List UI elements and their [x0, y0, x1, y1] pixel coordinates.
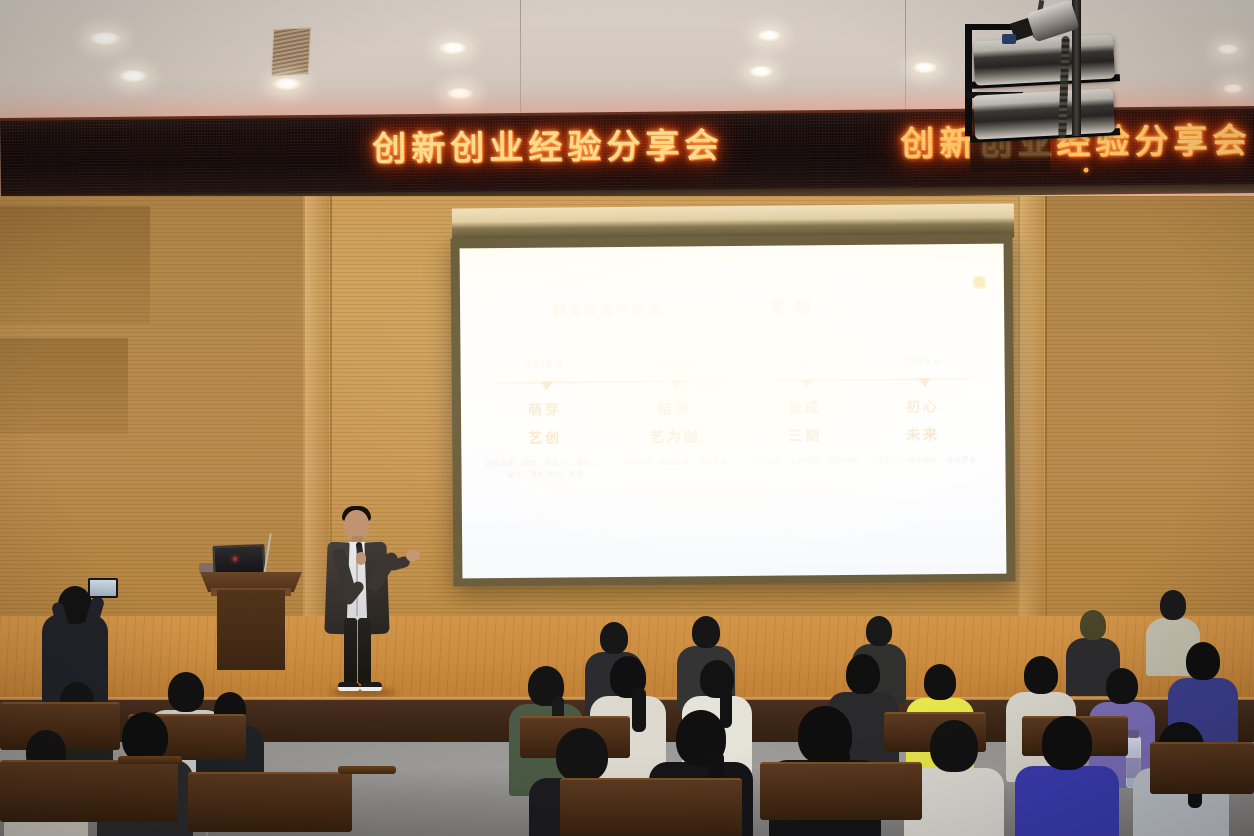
slide-subtitle: 艺 创	[770, 293, 813, 317]
timeline-heading-primary: 初心	[857, 396, 989, 417]
timeline-item: 2018.3 萌芽 艺创 团队组建、理念、项目 工、摄影工、设计、课外 活动、策…	[478, 247, 610, 248]
timeline-date: 2019.6	[857, 356, 989, 368]
timeline-body-text: 广州分部、业务拓展、 品牌升级	[743, 457, 867, 469]
chair-armrest	[338, 766, 396, 774]
timeline-heading-secondary: 未来	[857, 424, 989, 445]
slide-brand-logo	[973, 276, 986, 289]
wall-recess-lower	[0, 338, 128, 434]
projection-screen-frame: 创业历程时间轴 艺 创 2018.3 萌芽 艺创 团队组建、理念、项目 工、摄影…	[450, 234, 1015, 587]
timeline-marker-icon	[671, 380, 683, 389]
timeline-marker-icon	[541, 382, 553, 391]
timeline-axis	[481, 378, 987, 384]
wall-recess-upper	[0, 206, 150, 324]
wall-vertical-strip	[1018, 196, 1044, 616]
timeline-date: 2018.3	[479, 359, 611, 371]
cable-clamp	[1002, 34, 1016, 44]
timeline-body-text: 不忘初心、继续前行、 服务更多	[861, 456, 985, 468]
timeline-heading-primary: 萌芽	[479, 399, 611, 420]
ceiling-downlight	[88, 32, 122, 46]
wall-right-panel	[1045, 196, 1254, 616]
audience-area	[0, 560, 1254, 836]
timeline-body-text: 注册公司、首批业务、 团队扩展	[613, 458, 737, 470]
auditorium-scene: 创新创业经验分享会 创新创业经验分享会 创业历程时	[0, 0, 1254, 836]
timeline-date: 2018.6	[609, 358, 741, 370]
auditorium-chair[interactable]	[0, 760, 178, 822]
timeline-item: 2018.6 结果 艺为创 注册公司、首批业务、 团队扩展	[608, 246, 740, 247]
timeline-heading-secondary: 三期	[739, 425, 871, 446]
timeline-heading-primary: 长成	[739, 397, 871, 418]
smartphone	[88, 578, 118, 598]
timeline-heading-secondary: 艺创	[479, 427, 611, 448]
water-bottle-cap	[1128, 730, 1139, 738]
timeline-body-text: 团队组建、理念、项目 工、摄影工、设计、课外 活动、策划	[483, 459, 607, 482]
projector-bracket	[965, 24, 972, 136]
timeline-item: 2019.2 长成 三期 广州分部、业务拓展、 品牌升级	[738, 245, 870, 246]
timeline-marker-icon	[801, 379, 813, 388]
ceiling-downlight	[438, 42, 468, 55]
timeline-heading-primary: 结果	[609, 398, 741, 419]
chair-armrest	[118, 756, 182, 764]
auditorium-chair[interactable]	[560, 778, 742, 836]
projector-unit-lower	[973, 88, 1115, 139]
auditorium-chair[interactable]	[760, 762, 922, 820]
timeline-marker-icon	[919, 378, 931, 387]
projector-unit-upper	[973, 34, 1115, 85]
slide-title: 创业历程时间轴	[552, 299, 664, 319]
auditorium-chair[interactable]	[188, 772, 352, 832]
timeline-heading-secondary: 艺为创	[609, 426, 741, 447]
timeline-item: 2019.6 初心 未来 不忘初心、继续前行、 服务更多	[856, 244, 988, 245]
ceiling-air-vent	[271, 27, 312, 77]
auditorium-chair[interactable]	[1150, 742, 1254, 794]
ceiling-downlight	[272, 78, 302, 91]
projection-screen-surface[interactable]: 创业历程时间轴 艺 创 2018.3 萌芽 艺创 团队组建、理念、项目 工、摄影…	[460, 244, 1007, 579]
timeline-date: 2019.2	[739, 357, 871, 369]
ceiling-downlight	[118, 70, 148, 83]
